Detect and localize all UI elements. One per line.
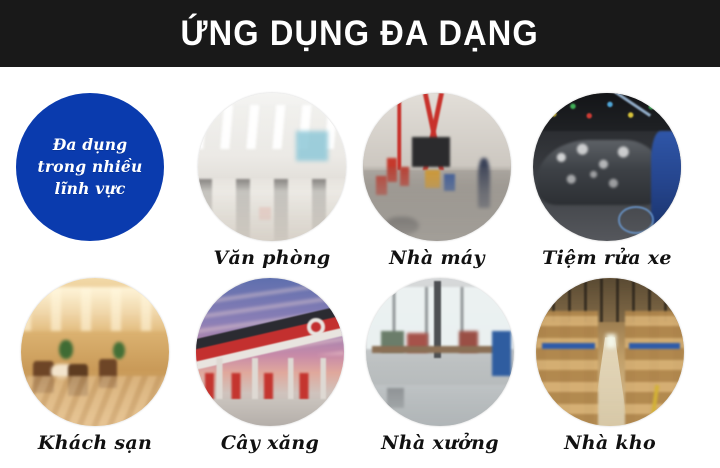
badge-line-2: trong nhiều — [38, 156, 143, 178]
carwash-floor-logo — [618, 206, 655, 234]
warehouse-scene — [536, 278, 684, 426]
workshop-conveyor — [372, 346, 508, 353]
caption-warehouse: Nhà kho — [530, 432, 690, 454]
factory-photo[interactable] — [363, 93, 511, 241]
gas-pumps — [196, 373, 344, 403]
header-banner: ỨNG DỤNG ĐA DẠNG — [0, 0, 720, 67]
office-photo[interactable] — [198, 93, 346, 241]
carwash-wand — [613, 93, 651, 117]
application-gallery: Đa dụng trong nhiều lĩnh vực Văn phòng — [0, 67, 720, 468]
tile-carwash[interactable]: Tiệm rửa xe — [527, 93, 687, 269]
gas-brand-logo — [307, 318, 325, 336]
hotel-chair — [68, 364, 87, 397]
workshop-photo[interactable] — [366, 278, 514, 426]
gas-station-scene — [196, 278, 344, 426]
warehouse-rack-beam — [629, 343, 679, 349]
tile-warehouse[interactable]: Nhà kho — [530, 278, 690, 454]
factory-scene — [363, 93, 511, 241]
carwash-photo[interactable] — [533, 93, 681, 241]
hotel-chair — [99, 359, 117, 387]
caption-factory: Nhà máy — [357, 247, 517, 269]
badge-circle: Đa dụng trong nhiều lĩnh vực — [16, 93, 164, 241]
factory-drum — [376, 176, 386, 195]
workshop-scene — [366, 278, 514, 426]
hotel-plant — [113, 342, 125, 360]
workshop-floor — [366, 385, 514, 426]
factory-machine — [412, 137, 450, 167]
page-title: ỨNG DỤNG ĐA DẠNG — [181, 16, 539, 51]
hotel-photo[interactable] — [21, 278, 169, 426]
office-partition — [296, 131, 329, 161]
factory-forklift — [425, 170, 440, 188]
factory-tires — [384, 217, 420, 235]
factory-worker — [478, 158, 490, 208]
caption-office: Văn phòng — [192, 247, 352, 269]
badge-line-3: lĩnh vực — [54, 178, 125, 200]
caption-gas-station: Cây xăng — [190, 432, 350, 454]
office-scene — [198, 93, 346, 241]
tile-badge: Đa dụng trong nhiều lĩnh vực — [10, 93, 170, 241]
carwash-worker — [651, 131, 681, 226]
tile-office[interactable]: Văn phòng — [192, 93, 352, 269]
warehouse-photo[interactable] — [536, 278, 684, 426]
factory-drum — [400, 167, 409, 186]
badge-line-1: Đa dụng — [53, 134, 128, 156]
warehouse-rack-beam — [542, 343, 595, 349]
hotel-scene — [21, 278, 169, 426]
warehouse-rack-left — [536, 311, 598, 426]
hotel-chair — [33, 361, 54, 394]
carwash-foam — [539, 137, 663, 205]
factory-drum — [387, 158, 397, 182]
hotel-plant — [59, 340, 72, 359]
workshop-equipment — [492, 331, 511, 375]
tile-factory[interactable]: Nhà máy — [357, 93, 517, 269]
tile-hotel[interactable]: Khách sạn — [15, 278, 175, 454]
carwash-scene — [533, 93, 681, 241]
gas-forecourt — [196, 399, 344, 426]
gas-station-photo[interactable] — [196, 278, 344, 426]
tile-workshop[interactable]: Nhà xưởng — [360, 278, 520, 454]
tile-gas-station[interactable]: Cây xăng — [190, 278, 350, 454]
caption-carwash: Tiệm rửa xe — [527, 247, 687, 269]
caption-workshop: Nhà xưởng — [360, 432, 520, 454]
office-accent — [259, 207, 271, 220]
factory-bin — [444, 174, 454, 190]
caption-hotel: Khách sạn — [15, 432, 175, 454]
warehouse-doorway-light — [606, 334, 616, 347]
